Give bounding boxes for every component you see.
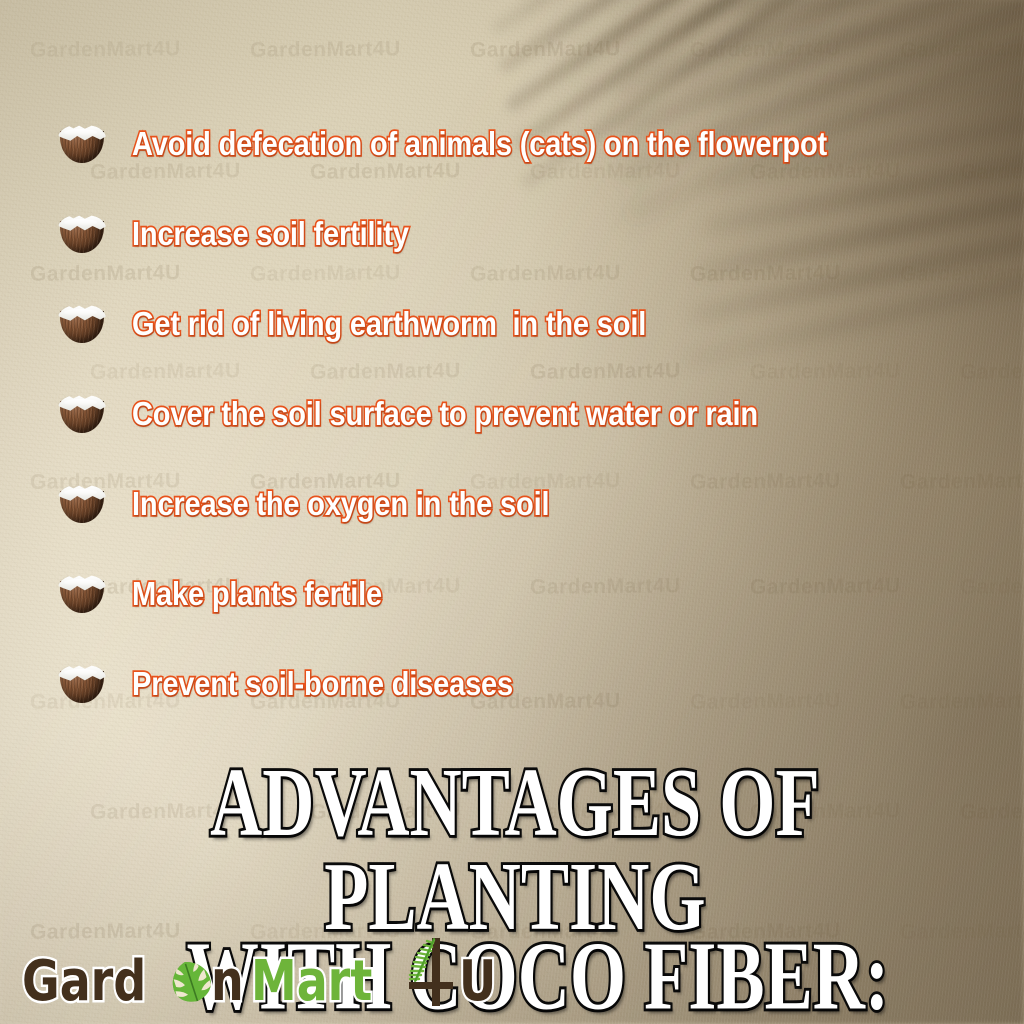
list-item-label: Increase soil fertility — [132, 217, 409, 250]
logo-text-garden: Gard — [22, 954, 146, 1010]
coconut-half-icon — [58, 212, 106, 254]
list-item: Increase soil fertility — [52, 188, 1012, 278]
list-item-label: Make plants fertile — [132, 577, 382, 610]
logo-text-mart: Mart — [251, 954, 372, 1010]
list-item-label: Prevent soil-borne diseases — [132, 667, 513, 700]
monstera-leaf-icon — [169, 958, 213, 1004]
brand-logo[interactable]: Gard n Mart — [22, 932, 505, 1010]
list-item: Increase the oxygen in the soil — [52, 458, 1012, 548]
list-item-label: Cover the soil surface to prevent water … — [132, 397, 758, 430]
palm-frond-four-icon — [401, 934, 457, 1008]
list-item: Get rid of living earthworm in the soil — [52, 278, 1012, 368]
coconut-half-icon — [58, 122, 106, 164]
list-item-label: Increase the oxygen in the soil — [132, 487, 549, 520]
list-item: Avoid defecation of animals (cats) on th… — [52, 98, 1012, 188]
watermark-text: GardenMart4U — [470, 37, 621, 63]
logo-text-n: n — [211, 954, 244, 1010]
watermark-text: GardenMart4U — [690, 37, 841, 63]
coconut-half-icon — [58, 482, 106, 524]
watermark-text: GardenMart4U — [900, 37, 1024, 63]
watermark-text: GardenMart4U — [30, 37, 181, 63]
coconut-half-icon — [58, 662, 106, 704]
logo-text-u: U — [459, 954, 496, 1010]
coconut-half-icon — [58, 302, 106, 344]
list-item: Cover the soil surface to prevent water … — [52, 368, 1012, 458]
poster-canvas: GardenMart4UGardenMart4UGardenMart4UGard… — [0, 0, 1024, 1024]
list-item: Prevent soil-borne diseases — [52, 638, 1012, 728]
advantages-list: Avoid defecation of animals (cats) on th… — [52, 98, 1012, 728]
list-item-label: Get rid of living earthworm in the soil — [132, 307, 646, 340]
coconut-half-icon — [58, 392, 106, 434]
watermark-text: GardenMart4U — [250, 37, 401, 63]
coconut-half-icon — [58, 572, 106, 614]
headline-line-1: ADVANTAGES OF PLANTING — [75, 757, 956, 944]
list-item: Make plants fertile — [52, 548, 1012, 638]
list-item-label: Avoid defecation of animals (cats) on th… — [132, 127, 827, 160]
